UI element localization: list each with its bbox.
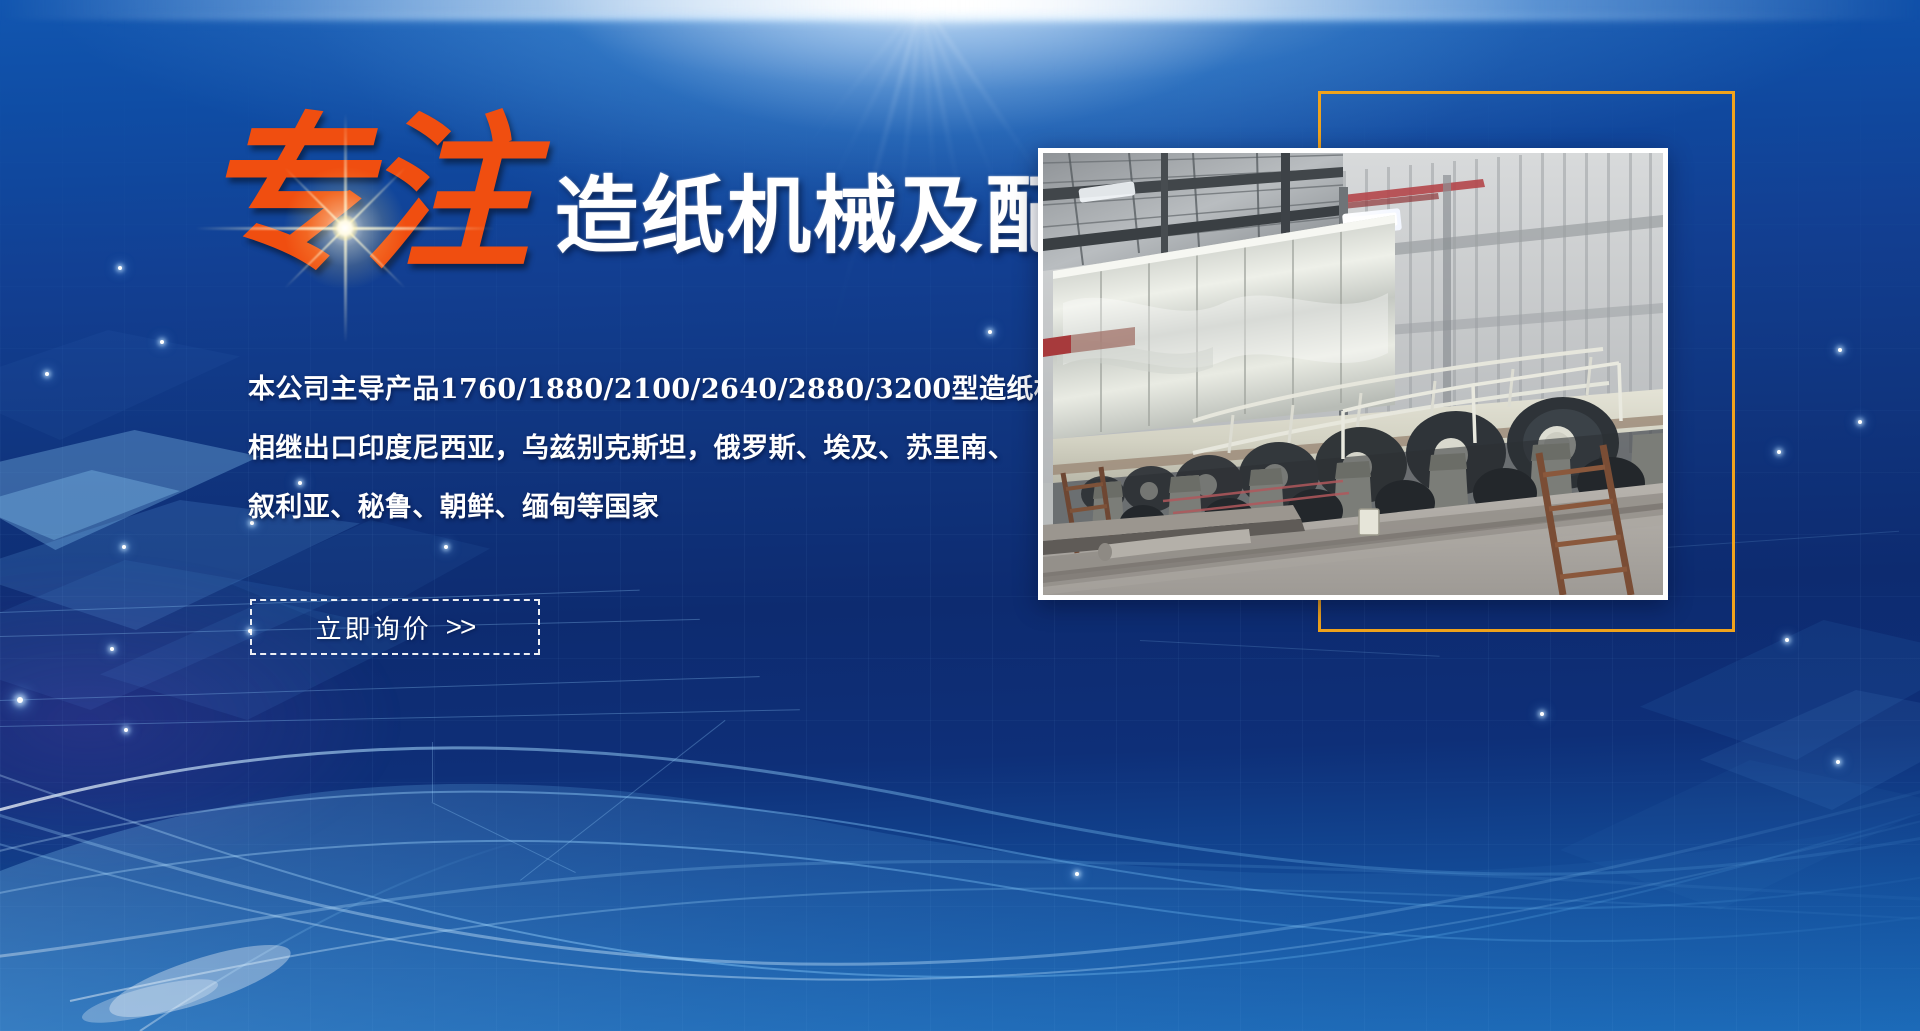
product-photo bbox=[1043, 153, 1663, 595]
hero-banner: 专注 造纸机械及配件 本公司主导产品1760/1880/2100/2640/28… bbox=[0, 0, 1920, 1031]
product-photo-card[interactable] bbox=[1038, 148, 1668, 600]
paper-machine-illustration bbox=[1043, 153, 1663, 595]
inquiry-cta-label: 立即询价 bbox=[316, 609, 432, 646]
body-line: 叙利亚、秘鲁、朝鲜、缅甸等国家 bbox=[248, 478, 1028, 537]
body-copy: 本公司主导产品1760/1880/2100/2640/2880/3200型造纸机… bbox=[248, 360, 1028, 537]
body-line: 相继出口印度尼西亚，乌兹别克斯坦，俄罗斯、埃及、苏里南、 bbox=[248, 419, 1028, 478]
chevron-right-double-icon: >> bbox=[446, 611, 475, 643]
banner-content: 专注 造纸机械及配件 本公司主导产品1760/1880/2100/2640/28… bbox=[0, 0, 1920, 1031]
body-line: 本公司主导产品1760/1880/2100/2640/2880/3200型造纸机 bbox=[248, 360, 1028, 419]
inquiry-cta-button[interactable]: 立即询价 >> bbox=[250, 599, 540, 655]
